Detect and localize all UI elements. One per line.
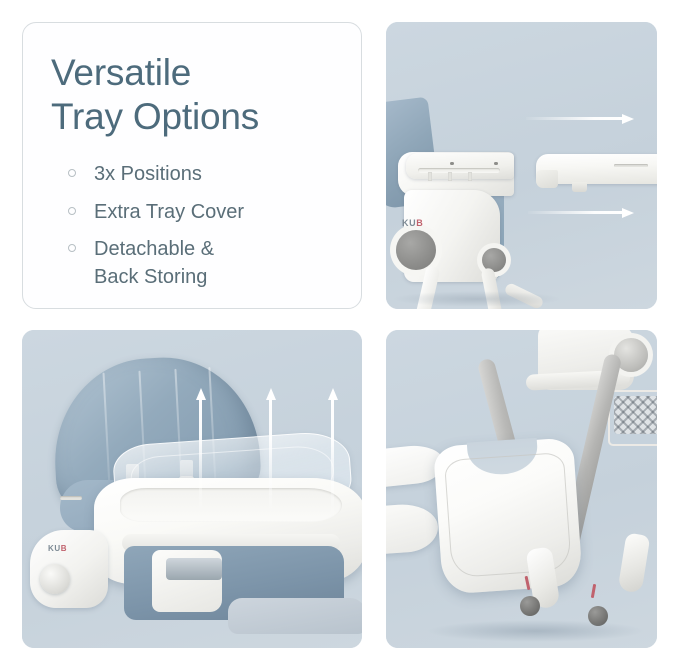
recline-knob (40, 564, 70, 594)
arrow-head-icon (328, 388, 338, 400)
tray-cover-lift-arrow-2 (266, 388, 275, 512)
arrow-head-icon (622, 208, 634, 218)
foot-marking (591, 584, 596, 598)
tray-well (120, 488, 342, 522)
circle-outline-bullet-icon (68, 169, 76, 177)
height-adjust-hub (396, 230, 436, 270)
storage-basket-mesh (614, 396, 657, 434)
bullet-label: Extra Tray Cover (94, 198, 244, 226)
circle-outline-bullet-icon (68, 207, 76, 215)
list-item: Extra Tray Cover (51, 198, 335, 226)
caster-wheel (520, 596, 540, 616)
page-title: Versatile Tray Options (51, 51, 335, 138)
rail-button (494, 162, 498, 165)
arrow-shaft (199, 399, 202, 510)
circle-outline-bullet-icon (68, 244, 76, 252)
arrow-head-icon (622, 114, 634, 124)
tray-cover-lift-arrow-1 (196, 388, 205, 510)
side-base-housing (30, 530, 108, 608)
list-item: 3x Positions (51, 160, 335, 188)
tray-slide-arrow-lower (528, 208, 634, 217)
tray-slot (60, 496, 82, 500)
arrow-shaft (528, 211, 623, 214)
brand-logo: KUB (48, 544, 67, 553)
tray-release-tab (572, 182, 587, 192)
footrest-cushion (228, 598, 362, 634)
arrow-shaft (526, 117, 623, 120)
product-infographic: Versatile Tray Options 3x Positions Extr… (0, 0, 679, 669)
tray-stack-lower (386, 502, 440, 558)
bullet-label: 3x Positions (94, 160, 202, 188)
tray-side-lip (536, 170, 558, 188)
list-item: Detachable & Back Storing (51, 235, 335, 292)
back-storing-panel (386, 330, 657, 648)
detachable-tray-panel: KUB (386, 22, 657, 309)
feature-bullet-list: 3x Positions Extra Tray Cover Detachable… (51, 160, 335, 292)
feature-text-card: Versatile Tray Options 3x Positions Extr… (22, 22, 362, 309)
tray-cover-lift-arrow-3 (328, 388, 337, 514)
floor-shadow (392, 291, 562, 307)
arrow-shaft (331, 399, 334, 514)
arrow-head-icon (196, 388, 206, 400)
chair-foot-right (618, 532, 651, 593)
arrow-shaft (269, 399, 272, 512)
highchair-seat-tray-photo: KUB KUB (22, 330, 362, 648)
tray-position-notch (468, 172, 472, 181)
crotch-harness (166, 558, 222, 580)
stored-tray (433, 437, 583, 594)
highchair-side-view-photo: KUB (386, 22, 657, 309)
floor-shadow (426, 620, 646, 642)
tray-rail (406, 153, 514, 179)
tray-slide-arrow-upper (526, 114, 634, 123)
tray-position-notch (448, 172, 452, 181)
tray-position-notch (428, 172, 432, 181)
tray-back-storage-photo (386, 330, 657, 648)
tray-cover-lift-panel: KUB KUB (22, 330, 362, 648)
bullet-label: Detachable & Back Storing (94, 235, 214, 292)
tray-slot (614, 164, 648, 167)
arrow-head-icon (266, 388, 276, 400)
rail-button (450, 162, 454, 165)
brand-logo: KUB (402, 218, 423, 228)
